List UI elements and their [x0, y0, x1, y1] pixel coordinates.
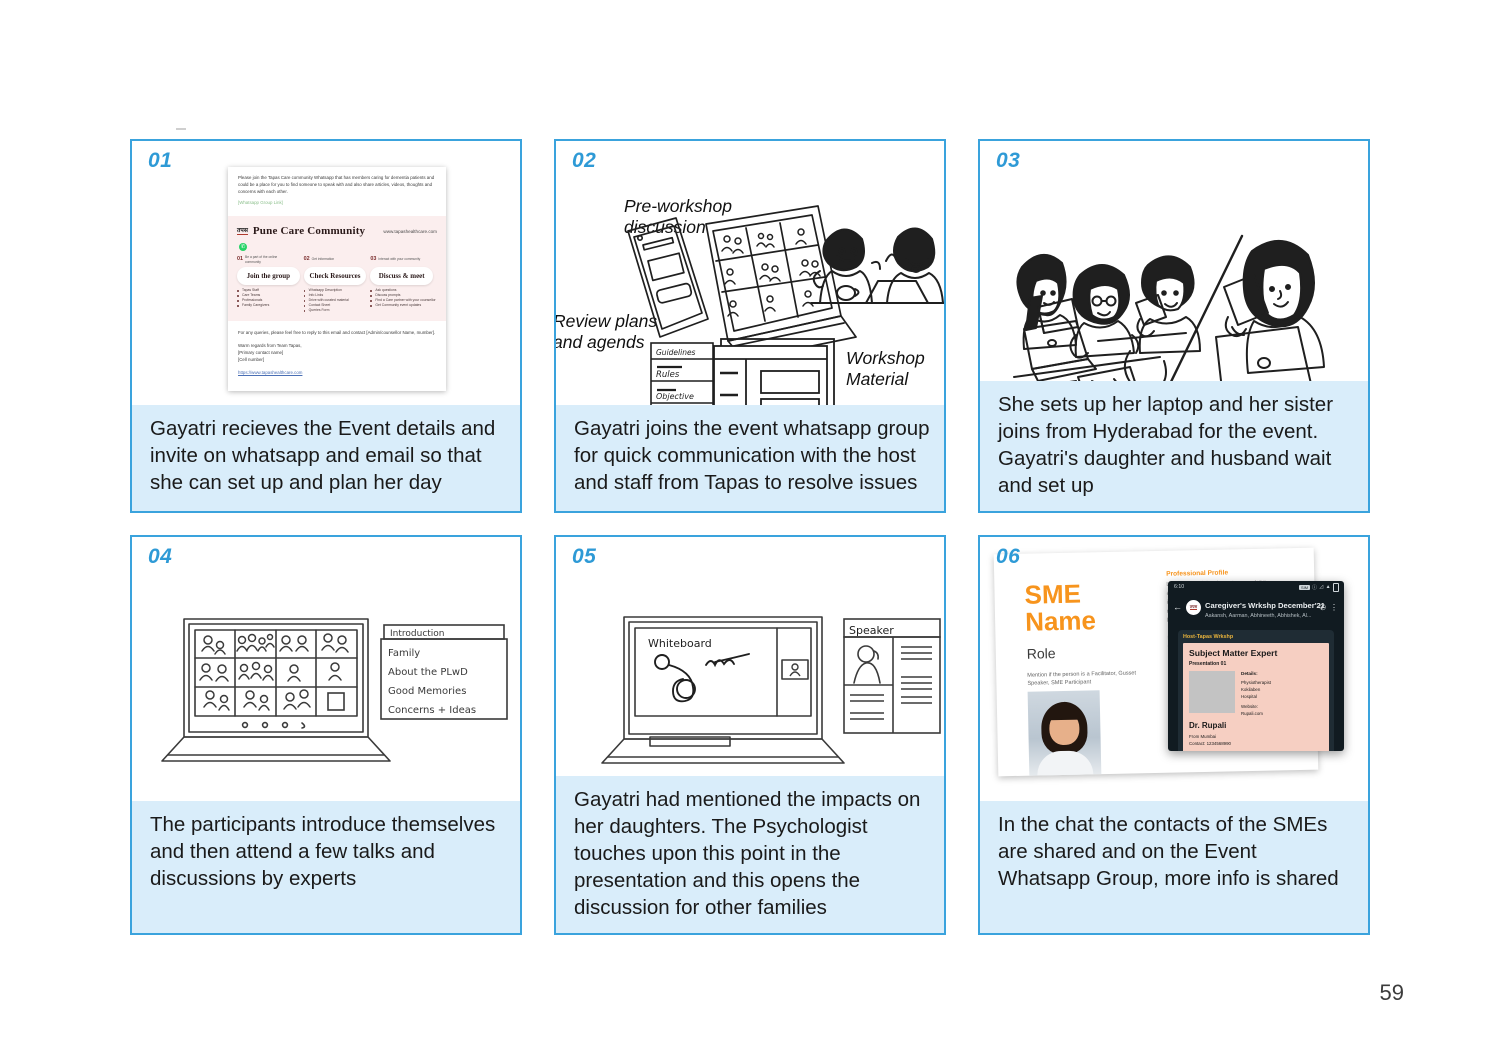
step-number-1: 01 — [237, 255, 243, 263]
whatsapp-icon: ✆ — [239, 243, 247, 251]
chat-group-name: Caregiver's Wrkshp December'21 — [1205, 601, 1325, 610]
panel-number-03: 03 — [996, 149, 1020, 173]
storyboard-panel-06: 06 SME Name Role Mention if the person i… — [978, 535, 1370, 935]
panel-05-sketch: Whiteboard — [556, 547, 944, 776]
panel-03-sketch — [980, 141, 1368, 381]
sme-portrait-photo — [1028, 690, 1102, 776]
panel-caption-01: Gayatri recieves the Event details and i… — [132, 405, 520, 511]
email-intro-text: Please join the Tapas Care community Wha… — [238, 175, 436, 195]
panel-caption-06: In the chat the contacts of the SMEs are… — [980, 801, 1368, 933]
card-details-block: Details: Physiotherapist Kokilaben Hospi… — [1241, 671, 1323, 718]
cast-icon: ◿ — [1319, 584, 1323, 590]
svg-text:Objective: Objective — [656, 392, 694, 401]
wifi-icon: ▲ — [1326, 584, 1331, 590]
status-icon-group: SIM ⓘ ◿ ▲ — [1299, 583, 1339, 592]
panel-artwork-04: 04 — [132, 537, 520, 801]
step-column-3: 03 Interact with your community Discuss … — [370, 255, 437, 308]
svg-text:Whiteboard: Whiteboard — [648, 637, 712, 650]
group-avatar[interactable]: तपस — [1186, 600, 1201, 615]
storyboard-grid: 01 Please join the Tapas Care community … — [130, 139, 1370, 935]
whatsapp-group-link[interactable]: [Whatsapp Group Link] — [238, 200, 436, 207]
battery-icon — [1333, 583, 1339, 592]
brand-url: www.tapashealthcare.com — [383, 228, 437, 235]
email-intro-block: Please join the Tapas Care community Wha… — [228, 167, 446, 211]
panel-artwork-05: 05 — [556, 537, 944, 776]
card-footer-block: From Mumbai Contact: 1234568990 — [1189, 734, 1323, 747]
step-number-2: 02 — [304, 255, 310, 263]
svg-text:Speaker: Speaker — [849, 624, 894, 637]
email-signoff-2: [Primary contact name] — [238, 350, 436, 357]
status-time: 6:10 — [1174, 584, 1184, 590]
svg-text:Introduction: Introduction — [390, 629, 445, 639]
panel-number-04: 04 — [148, 545, 172, 569]
svg-text:Good Memories: Good Memories — [388, 686, 466, 697]
step-label-2: Get information — [312, 257, 335, 261]
sim-icon: SIM — [1299, 585, 1309, 590]
whatsapp-phone-screen: 6:10 SIM ⓘ ◿ ▲ ← तपस Caregive — [1168, 581, 1344, 751]
bullet: Get Community event updates — [370, 303, 437, 308]
svg-text:Concerns + Ideas: Concerns + Ideas — [388, 705, 476, 716]
chat-title-block[interactable]: Caregiver's Wrkshp December'21 Aakansh, … — [1205, 595, 1315, 620]
panel-number-05: 05 — [572, 545, 596, 569]
panel-caption-05: Gayatri had mentioned the impacts on her… — [556, 776, 944, 933]
panel-caption-02: Gayatri joins the event whatsapp group f… — [556, 405, 944, 511]
card-middle-row: Details: Physiotherapist Kokilaben Hospi… — [1189, 671, 1323, 718]
svg-text:Rules: Rules — [656, 370, 680, 380]
step-label-1: Be a part of the online community — [245, 255, 291, 263]
panel-caption-03: She sets up her laptop and her sister jo… — [980, 381, 1368, 511]
check-resources-button[interactable]: Check Resources — [304, 267, 367, 285]
sme-note-text: Mention if the person is a Facilitator, … — [1027, 669, 1152, 688]
step-bullets-1: Tapas Staff Care Teams Professionals Fam… — [237, 288, 304, 308]
sme-name-heading: SME Name — [1024, 580, 1096, 636]
email-footer-link[interactable]: https://www.tapashealthcare.com — [238, 370, 436, 377]
email-closing-block: For any queries, please feel free to rep… — [228, 321, 446, 381]
panel-number-02: 02 — [572, 149, 596, 173]
storyboard-panel-04: 04 — [130, 535, 522, 935]
email-signoff-3: [Cell number] — [238, 357, 436, 364]
chat-message-bubble[interactable]: Host-Tapas Wrkshp Subject Matter Expert … — [1178, 630, 1334, 751]
card-contact-number: Contact: 1234568990 — [1189, 741, 1323, 748]
card-detail-line: Kokilaben — [1241, 687, 1323, 694]
step-bullets-3: Ask questions Discuss prompts Find a Car… — [370, 288, 437, 308]
card-title: Subject Matter Expert — [1189, 648, 1323, 658]
phone-status-bar: 6:10 SIM ⓘ ◿ ▲ — [1168, 581, 1344, 592]
storyboard-panel-03: 03 — [978, 139, 1370, 513]
video-call-icon[interactable]: ✆ — [1319, 603, 1326, 612]
join-the-group-button[interactable]: Join the group — [237, 267, 300, 285]
panel-artwork-01: 01 Please join the Tapas Care community … — [132, 141, 520, 405]
email-signoff-1: Warm regards from Team Tapas, — [238, 343, 436, 350]
sme-name-line1: SME — [1024, 580, 1095, 609]
message-sender-label: Host-Tapas Wrkshp — [1183, 634, 1329, 640]
bullet: Queries Form — [304, 308, 371, 313]
info-icon: ⓘ — [1312, 584, 1317, 591]
email-closing-text: For any queries, please feel free to rep… — [238, 330, 436, 337]
step-bullets-2: Whatsapp Description Info Links Drive wi… — [304, 288, 371, 313]
card-details-heading: Details: — [1241, 671, 1258, 676]
panel-02-sketch: Guidelines Rules Objective Activity — [556, 141, 944, 405]
panel-number-01: 01 — [148, 149, 172, 173]
card-from-city: From Mumbai — [1189, 734, 1323, 741]
card-detail-line: Physiotherapist — [1241, 680, 1323, 687]
card-presentation-label: Presentation 01 — [1189, 661, 1323, 667]
card-photo-placeholder — [1189, 671, 1235, 713]
step-column-2: 02 Get information Check Resources Whats… — [304, 255, 371, 313]
panel-artwork-03: 03 — [980, 141, 1368, 381]
card-website-value: Rupali.com — [1241, 711, 1323, 718]
panel-artwork-06: 06 SME Name Role Mention if the person i… — [980, 537, 1368, 801]
card-website-label: Website: — [1241, 704, 1323, 711]
steps-row: 01 Be a part of the online community Joi… — [237, 255, 437, 313]
step-label-3: Interact with your community — [378, 257, 420, 261]
step-head-2: 02 Get information — [304, 255, 371, 263]
tapas-logo: तपस — [237, 228, 248, 235]
storyboard-panel-01: 01 Please join the Tapas Care community … — [130, 139, 522, 513]
sme-contact-card: Subject Matter Expert Presentation 01 De… — [1183, 643, 1329, 751]
discuss-and-meet-button[interactable]: Discuss & meet — [370, 267, 433, 285]
portrait-shoulders — [1037, 750, 1094, 776]
back-arrow-icon[interactable]: ← — [1173, 603, 1182, 612]
svg-text:Family: Family — [388, 648, 420, 659]
email-mockup: Please join the Tapas Care community Wha… — [228, 167, 446, 391]
brand-row: तपस Pune Care Community www.tapashealthc… — [237, 223, 437, 240]
step-head-1: 01 Be a part of the online community — [237, 255, 304, 263]
bullet: Family Caregivers — [237, 303, 304, 308]
svg-text:About the PLwD: About the PLwD — [388, 667, 468, 678]
panel-04-sketch: Introduction Family About the PLwD Good … — [132, 547, 520, 801]
page-number: 59 — [1380, 980, 1404, 1006]
sme-name-line2: Name — [1025, 608, 1096, 637]
chat-members-list: Aakansh, Aarman, Abhineeth, Abhishek, Al… — [1205, 613, 1315, 620]
email-banner: तपस Pune Care Community www.tapashealthc… — [228, 216, 446, 321]
avatar-logo: तपस — [1190, 605, 1197, 610]
card-doctor-name: Dr. Rupali — [1189, 721, 1323, 730]
storyboard-panel-05: 05 — [554, 535, 946, 935]
panel-artwork-02: 02 Pre-workshop discussion Review plans … — [556, 141, 944, 405]
section-heading-professional-profile: Professional Profile — [1166, 568, 1286, 578]
storyboard-page: 01 Please join the Tapas Care community … — [0, 0, 1500, 1061]
panel-number-06: 06 — [996, 545, 1020, 569]
sme-role-label: Role — [1027, 645, 1056, 662]
chat-header: ← तपस Caregiver's Wrkshp December'21 Aak… — [1168, 592, 1344, 625]
card-detail-line: Hospital — [1241, 694, 1323, 701]
registration-tick — [176, 128, 186, 130]
overflow-menu-icon[interactable]: ⋮ — [1330, 603, 1338, 612]
portrait-fringe — [1048, 704, 1080, 721]
step-column-1: 01 Be a part of the online community Joi… — [237, 255, 304, 308]
step-number-3: 03 — [370, 255, 376, 263]
panel-caption-04: The participants introduce themselves an… — [132, 801, 520, 933]
storyboard-panel-02: 02 Pre-workshop discussion Review plans … — [554, 139, 946, 513]
svg-text:Guidelines: Guidelines — [656, 348, 696, 357]
step-head-3: 03 Interact with your community — [370, 255, 437, 263]
community-name: Pune Care Community — [253, 223, 365, 240]
